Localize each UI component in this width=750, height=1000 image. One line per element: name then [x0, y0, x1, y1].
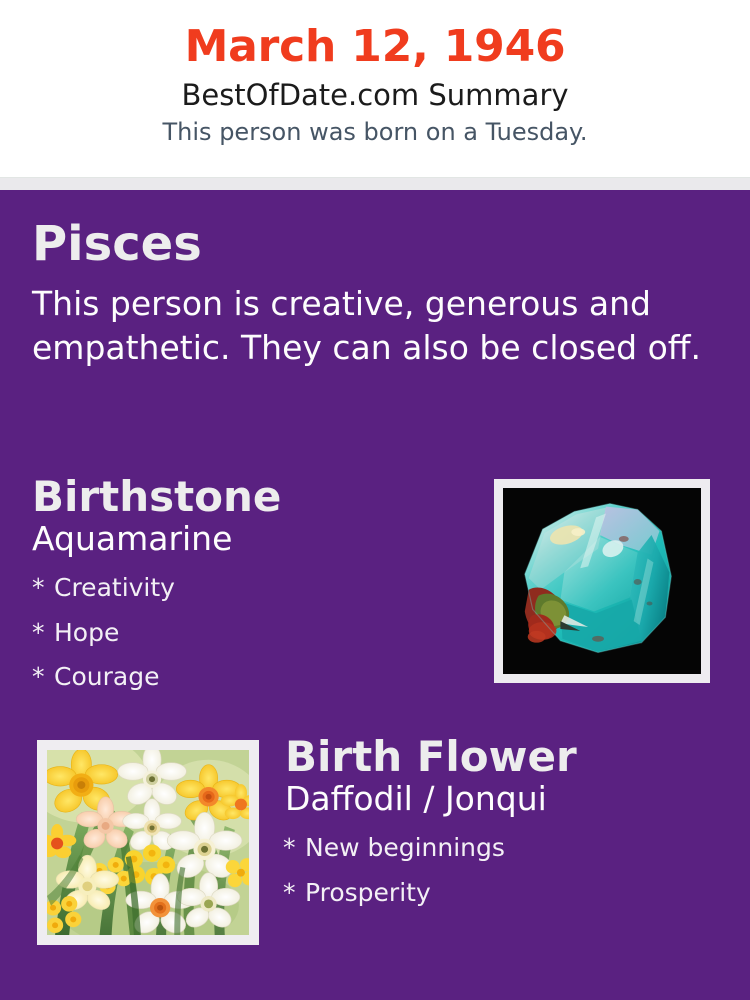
birthstone-trait-label: Creativity — [54, 573, 175, 602]
birth-flower-trait-label: Prosperity — [305, 878, 431, 907]
birthstone-section: Birthstone Aquamarine *Creativity *Hope … — [32, 475, 472, 700]
birth-flower-trait-list: *New beginnings *Prosperity — [283, 826, 733, 915]
zodiac-description: This person is creative, generous and em… — [32, 282, 712, 370]
birth-flower-section: Birth Flower Daffodil / Jonqui *New begi… — [283, 735, 733, 915]
birthstone-trait-list: *Creativity *Hope *Courage — [32, 566, 472, 700]
header: March 12, 1946 BestOfDate.com Summary Th… — [0, 0, 750, 177]
birth-flower-trait-label: New beginnings — [305, 833, 505, 862]
summary-card: March 12, 1946 BestOfDate.com Summary Th… — [0, 0, 750, 1000]
list-item: *Creativity — [32, 566, 472, 611]
list-item: *Courage — [32, 655, 472, 700]
zodiac-sign-title: Pisces — [32, 220, 722, 268]
birthstone-image-frame — [494, 479, 710, 683]
daffodil-flowers-photo — [47, 750, 249, 935]
birth-flower-image-frame — [37, 740, 259, 945]
list-item: *Hope — [32, 611, 472, 656]
zodiac-section: Pisces This person is creative, generous… — [32, 220, 722, 370]
born-day-text: This person was born on a Tuesday. — [0, 119, 750, 145]
page-title: March 12, 1946 — [0, 24, 750, 70]
aquamarine-crystal-illustration — [503, 488, 701, 674]
birthstone-trait-label: Courage — [54, 662, 159, 691]
birthstone-name: Aquamarine — [32, 521, 472, 558]
birthstone-trait-label: Hope — [54, 618, 119, 647]
asterisk-icon: * — [32, 655, 54, 700]
birthstone-title: Birthstone — [32, 475, 472, 519]
header-divider — [0, 177, 750, 191]
list-item: *New beginnings — [283, 826, 733, 871]
aquamarine-crystal-photo — [503, 488, 701, 674]
asterisk-icon: * — [32, 566, 54, 611]
birth-flower-title: Birth Flower — [283, 735, 733, 779]
asterisk-icon: * — [283, 871, 305, 916]
site-name: BestOfDate.com Summary — [0, 80, 750, 112]
list-item: *Prosperity — [283, 871, 733, 916]
birth-flower-name: Daffodil / Jonqui — [283, 781, 733, 818]
asterisk-icon: * — [32, 611, 54, 656]
asterisk-icon: * — [283, 826, 305, 871]
daffodil-field-illustration — [47, 750, 249, 935]
